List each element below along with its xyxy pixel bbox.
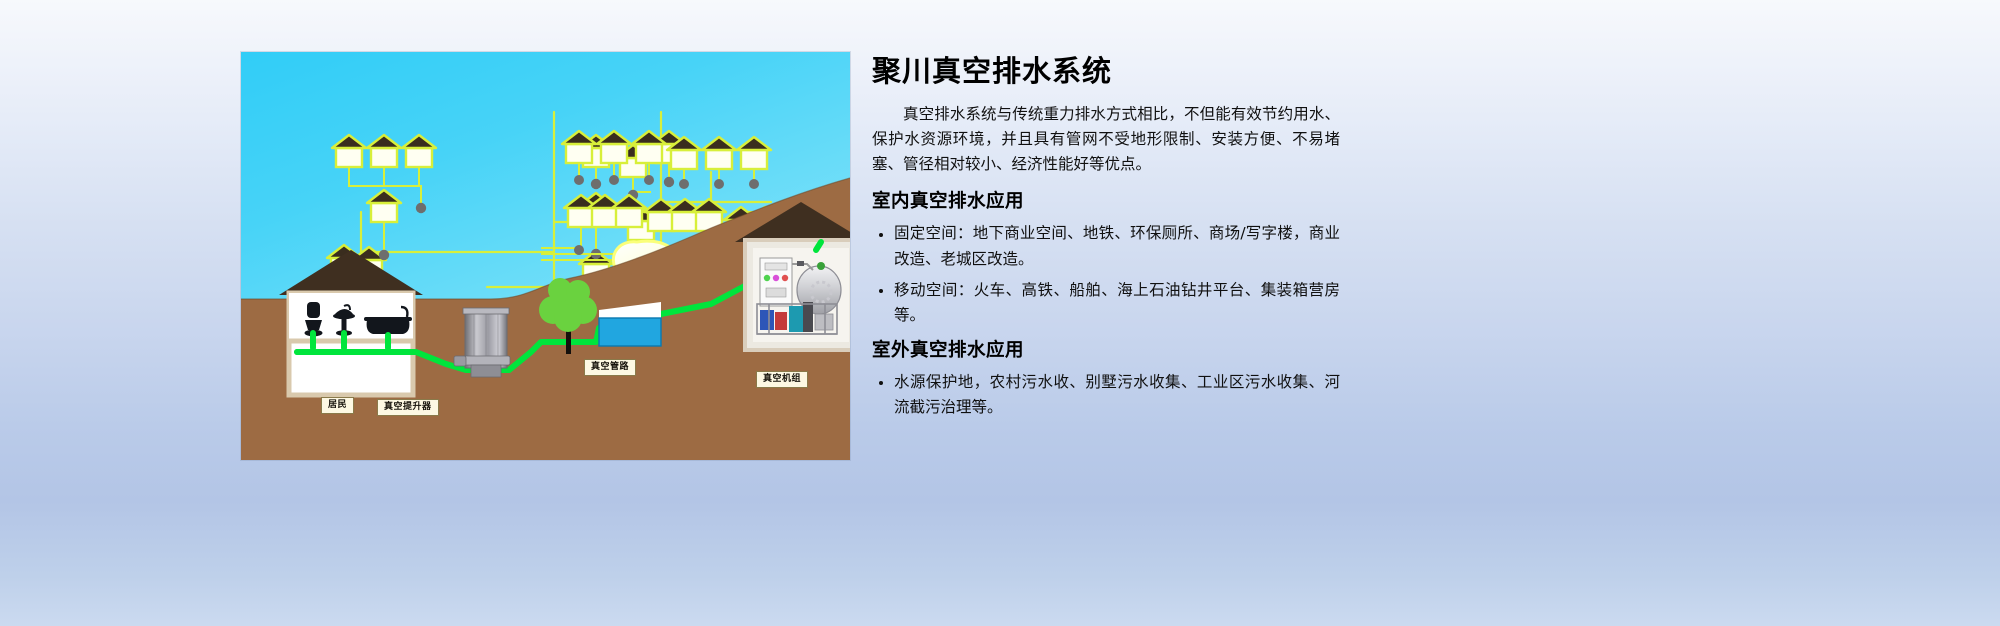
system-diagram-illustration: 居民 真空提升器 真空管路 真空机组 [241, 52, 850, 460]
section-heading-outdoor: 室外真空排水应用 [872, 340, 1340, 362]
list-item: 水源保护地，农村污水收、别墅污水收集、工业区污水收集、河流截污治理等。 [872, 370, 1340, 420]
house-icon [562, 131, 596, 163]
house-icon [367, 190, 401, 222]
outdoor-application-list: 水源保护地，农村污水收、别墅污水收集、工业区污水收集、河流截污治理等。 [872, 370, 1340, 420]
house-icon [597, 131, 631, 163]
list-item: 固定空间：地下商业空间、地铁、环保厕所、商场/写字楼，商业改造、老城区改造。 [872, 221, 1340, 271]
label-vacuum-lift: 真空提升器 [377, 399, 439, 416]
house-icon [332, 135, 366, 167]
house-icon [702, 137, 736, 169]
house-icon [402, 135, 436, 167]
page-title: 聚川真空排水系统 [872, 56, 1340, 88]
section-heading-indoor: 室内真空排水应用 [872, 191, 1340, 213]
label-vacuum-unit: 真空机组 [756, 371, 808, 388]
indoor-application-list: 固定空间：地下商业空间、地铁、环保厕所、商场/写字楼，商业改造、老城区改造。 移… [872, 221, 1340, 327]
label-vacuum-pipeline: 真空管路 [584, 359, 636, 376]
house-icon [612, 195, 646, 227]
poster-stage: 居民 真空提升器 真空管路 真空机组 聚川真空排水系统 真空排水系统与传统重力排… [0, 0, 2000, 626]
house-icon [737, 137, 771, 169]
intro-paragraph: 真空排水系统与传统重力排水方式相比，不但能有效节约用水、保护水资源环境，并且具有… [872, 102, 1340, 177]
list-item: 移动空间：火车、高铁、船舶、海上石油钻井平台、集装箱营房等。 [872, 278, 1340, 328]
residence-cutaway [279, 250, 423, 395]
description-panel: 聚川真空排水系统 真空排水系统与传统重力排水方式相比，不但能有效节约用水、保护水… [872, 56, 1340, 432]
house-icon [367, 135, 401, 167]
label-resident: 居民 [321, 397, 354, 414]
